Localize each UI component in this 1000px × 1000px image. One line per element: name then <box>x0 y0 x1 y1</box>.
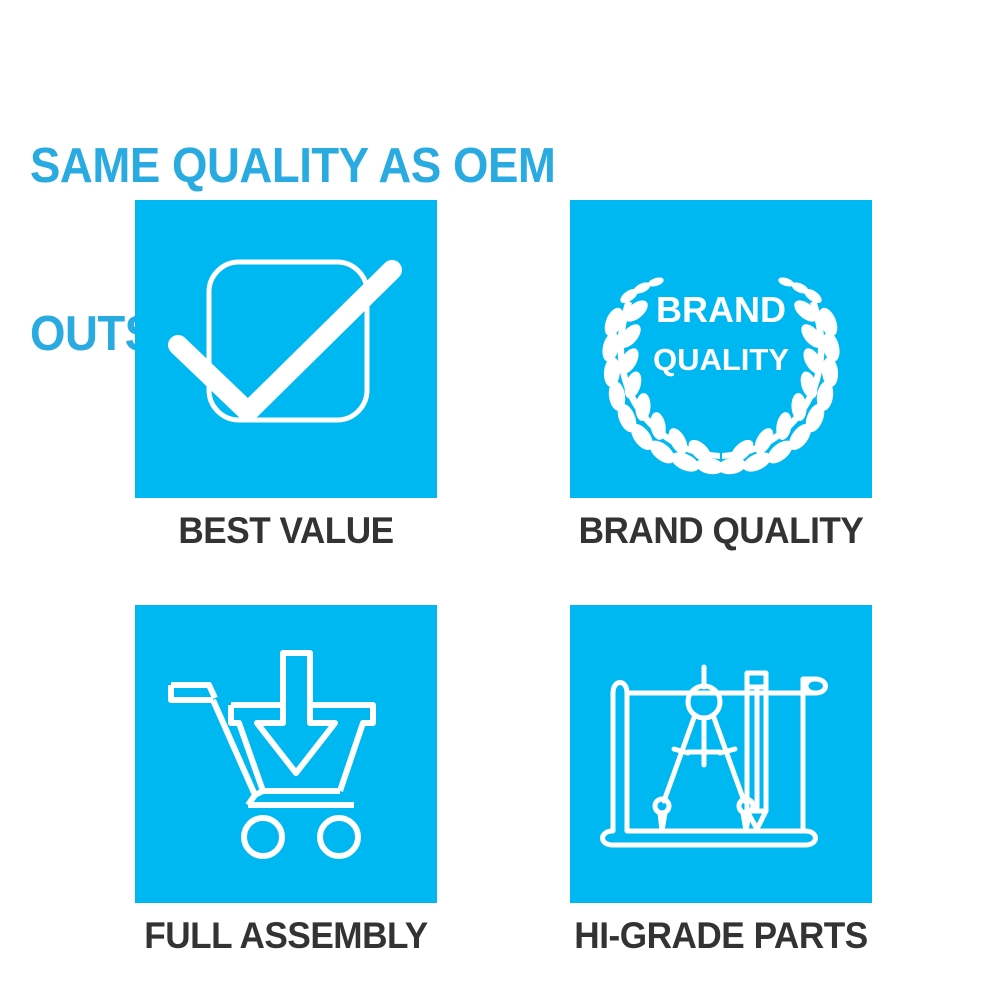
promo-banner: SAME QUALITY AS OEM OUTSIDE + INSIDE BES… <box>0 0 1000 1000</box>
shopping-cart-download-icon <box>135 605 437 903</box>
wreath-badge-line-2: QUALITY <box>653 342 789 377</box>
feature-tile-brand-quality: BRAND QUALITY <box>570 200 872 498</box>
feature-label-best-value: BEST VALUE <box>79 511 493 551</box>
blueprint-compass-pencil-icon <box>570 605 872 903</box>
laurel-wreath-icon: BRAND QUALITY <box>570 200 872 498</box>
feature-tile-full-assembly <box>135 605 437 903</box>
feature-item-brand-quality: BRAND QUALITY BRAND QUALITY <box>503 200 939 551</box>
feature-tile-best-value <box>135 200 437 498</box>
feature-grid: BEST VALUE <box>0 185 1000 975</box>
feature-item-best-value: BEST VALUE <box>68 200 504 551</box>
feature-label-hi-grade-parts: HI-GRADE PARTS <box>514 916 928 956</box>
checkmark-square-icon <box>135 200 437 498</box>
feature-label-full-assembly: FULL ASSEMBLY <box>79 916 493 956</box>
feature-item-hi-grade-parts: HI-GRADE PARTS <box>503 605 939 956</box>
wreath-badge-line-1: BRAND <box>656 289 786 330</box>
feature-item-full-assembly: FULL ASSEMBLY <box>68 605 504 956</box>
feature-label-brand-quality: BRAND QUALITY <box>514 511 928 551</box>
feature-tile-hi-grade-parts <box>570 605 872 903</box>
